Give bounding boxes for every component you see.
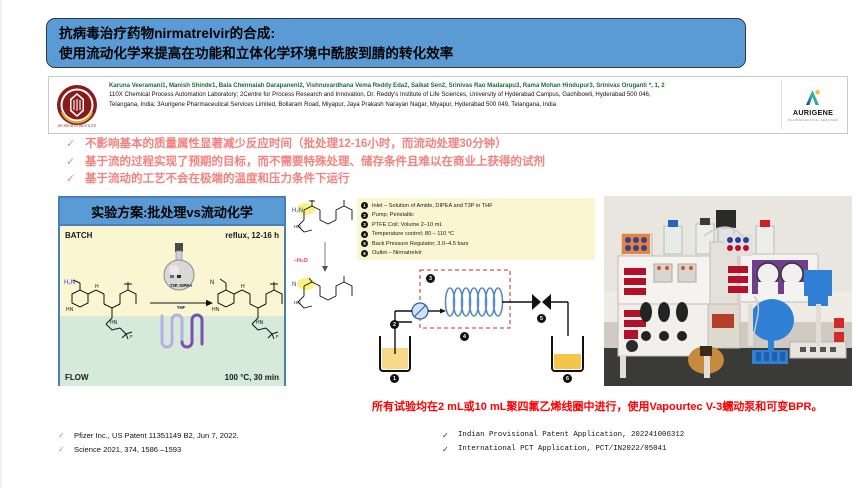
check-icon: ✓	[58, 430, 66, 441]
svg-text:HN: HN	[256, 320, 264, 326]
figure-caption: 所有试验均在2 mL或10 mL聚四氟乙烯线圈中进行，使用Vapourtec V…	[372, 398, 856, 414]
reference-item: ✓ Science 2021, 374, 1586 –1593	[58, 444, 438, 455]
flow-reactor-schematic: 1 2 3 4 5 6	[352, 262, 600, 386]
title-line-2: 使用流动化学来提高在功能和立体化学环境中酰胺到腈的转化效率	[59, 44, 735, 64]
legend-item: 5 Back Pressure Regulator; 3.0–4.5 bars	[361, 239, 591, 249]
svg-text:H₂N: H₂N	[64, 280, 75, 286]
institute-seal-icon: DR REDDYS INSTITUTE	[53, 82, 101, 130]
highlight-item: ✓ 基于流的过程实现了预期的目标，而不需要特殊处理、储存条件且难以在商业上获得的…	[66, 155, 806, 171]
reaction-arrow-icon	[146, 288, 216, 314]
reference-text: Pfizer Inc., US Patent 11351149 B2, Jun …	[74, 430, 239, 441]
reference-item: ✓ Pfizer Inc., US Patent 11351149 B2, Ju…	[58, 430, 438, 441]
reagent-top-label: T3P, DIPEA	[150, 283, 212, 288]
laboratory-setup-photo	[604, 196, 852, 386]
highlight-item: ✓ 基于流动的工艺不会在极端的温度和压力条件下运行	[66, 172, 806, 188]
svg-text:H: H	[95, 284, 99, 290]
reference-item: ✓ International PCT Application, PCT/IN2…	[442, 444, 842, 455]
svg-text:F: F	[130, 334, 133, 339]
flow-marker-2: 2	[390, 320, 399, 329]
svg-text:H₂N: H₂N	[292, 208, 303, 214]
nitrile-product-structure: N HN H HN F	[210, 278, 284, 340]
legend-item: 3 PTFE Coil; Volume 2–10 mL	[361, 220, 591, 230]
svg-text:HN: HN	[66, 307, 74, 313]
batch-label: BATCH	[65, 231, 92, 240]
references-right-column: ✓ Indian Provisional Patent Application,…	[442, 430, 842, 458]
legend-marker-1: 1	[361, 202, 368, 209]
scheme-header-text: 实验方案:批处理vs流动化学	[91, 202, 253, 221]
legend-item: 6 Outlet – Nirmatrelvir	[361, 249, 591, 259]
experimental-scheme-panel: 实验方案:批处理vs流动化学 BATCH reflux, 12-16 h FLO…	[58, 196, 286, 386]
slide-left-edge	[0, 0, 2, 488]
flow-marker-1: 1	[390, 374, 399, 383]
references-left-column: ✓ Pfizer Inc., US Patent 11351149 B2, Ju…	[58, 430, 438, 458]
check-icon: ✓	[442, 444, 450, 455]
svg-text:N: N	[210, 280, 214, 286]
flow-marker-5: 5	[537, 314, 546, 323]
lab-equipment-illustration	[604, 196, 852, 386]
svg-text:DR REDDYS INSTITUTE: DR REDDYS INSTITUTE	[58, 124, 97, 128]
amide-substrate-structure: H₂N HN H HN F	[62, 278, 148, 340]
authors-block: Karuna Veeramani1, Manish Shinde1, Bala …	[109, 81, 781, 109]
reference-text: Indian Provisional Patent Application, 2…	[458, 430, 684, 441]
svg-text:F: F	[276, 334, 279, 339]
check-icon: ✓	[66, 137, 76, 152]
highlight-text: 基于流动的工艺不会在极端的温度和压力条件下运行	[85, 172, 350, 188]
scheme-panel-body: BATCH reflux, 12-16 h FLOW 100 °C, 30 mi…	[60, 226, 284, 386]
aurigene-mark-icon	[803, 89, 823, 107]
batch-conditions-label: reflux, 12-16 h	[225, 231, 279, 240]
slide-title-banner: 抗病毒治疗药物nirmatrelvir的合成: 使用流动化学来提高在功能和立体化…	[46, 18, 746, 68]
highlight-text: 基于流的过程实现了预期的目标，而不需要特殊处理、储存条件且难以在商业上获得的试剂	[85, 155, 545, 171]
affiliation-line-2: Telangana, India; 3Aurigene Pharmaceutic…	[109, 100, 781, 109]
legend-marker-6: 6	[361, 250, 368, 257]
aurigene-tagline: PHARMACEUTICAL SERVICES	[788, 118, 838, 122]
flow-process-panel: H₂N HN N HN –H₂O 1 Inlet – Soluti	[292, 196, 600, 386]
svg-text:HN: HN	[294, 224, 301, 229]
flow-marker-6: 6	[563, 374, 572, 383]
flow-marker-3: 3	[426, 274, 435, 283]
legend-item: 4 Temperature control; 80 – 110 °C	[361, 230, 591, 240]
check-icon: ✓	[66, 155, 76, 170]
svg-text:H: H	[241, 284, 245, 290]
aurigene-wordmark: AURIGENE	[793, 108, 833, 117]
flow-conditions-label: 100 °C, 30 min	[225, 373, 279, 382]
legend-marker-2: 2	[361, 212, 368, 219]
legend-text: PTFE Coil; Volume 2–10 mL	[372, 222, 443, 228]
legend-text: Temperature control; 80 – 110 °C	[372, 231, 454, 237]
flow-legend-box: 1 Inlet – Solution of Amide, DIPEA and T…	[357, 198, 595, 260]
legend-item: 1 Inlet – Solution of Amide, DIPEA and T…	[361, 201, 591, 211]
flow-coil-icon	[156, 310, 212, 352]
aurigene-logo: AURIGENE PHARMACEUTICAL SERVICES	[781, 80, 844, 130]
legend-marker-3: 3	[361, 221, 368, 228]
legend-text: Pump; Peristaltic	[372, 212, 414, 218]
flow-label: FLOW	[65, 373, 89, 382]
legend-item: 2 Pump; Peristaltic	[361, 211, 591, 221]
check-icon: ✓	[58, 444, 66, 455]
authors-affiliations-band: DR REDDYS INSTITUTE Karuna Veeramani1, M…	[48, 76, 848, 134]
title-line-1: 抗病毒治疗药物nirmatrelvir的合成:	[59, 24, 735, 44]
scheme-panel-header: 实验方案:批处理vs流动化学	[60, 198, 284, 226]
svg-text:N: N	[292, 282, 296, 288]
reagent-bottom-label: THF	[150, 305, 212, 310]
highlight-item: ✓ 不影响基本的质量属性显著减少反应时间（批处理12-16小时，而流动处理30分…	[66, 137, 806, 153]
legend-text: Outlet – Nirmatrelvir	[372, 250, 422, 256]
check-icon: ✓	[66, 172, 76, 187]
svg-text:HN: HN	[212, 307, 220, 313]
slide-canvas: 抗病毒治疗药物nirmatrelvir的合成: 使用流动化学来提高在功能和立体化…	[0, 0, 860, 488]
flow-marker-4: 4	[460, 332, 469, 341]
legend-text: Back Pressure Regulator; 3.0–4.5 bars	[372, 241, 468, 247]
svg-text:HN: HN	[110, 320, 118, 326]
reference-text: Science 2021, 374, 1586 –1593	[74, 444, 181, 455]
author-names: Karuna Veeramani1, Manish Shinde1, Bala …	[109, 81, 781, 90]
check-icon: ✓	[442, 430, 450, 441]
affiliation-line-1: 110X Chemical Process Automation Laborat…	[109, 90, 781, 99]
svg-text:HN: HN	[294, 300, 301, 305]
highlight-text: 不影响基本的质量属性显著减少反应时间（批处理12-16小时，而流动处理30分钟）	[85, 137, 507, 153]
key-highlights-list: ✓ 不影响基本的质量属性显著减少反应时间（批处理12-16小时，而流动处理30分…	[66, 137, 806, 190]
reference-text: International PCT Application, PCT/IN202…	[458, 444, 666, 455]
legend-text: Inlet – Solution of Amide, DIPEA and T3P…	[372, 203, 493, 209]
reference-item: ✓ Indian Provisional Patent Application,…	[442, 430, 842, 441]
water-elimination-label: –H₂O	[294, 258, 308, 264]
legend-marker-5: 5	[361, 240, 368, 247]
legend-marker-4: 4	[361, 231, 368, 238]
